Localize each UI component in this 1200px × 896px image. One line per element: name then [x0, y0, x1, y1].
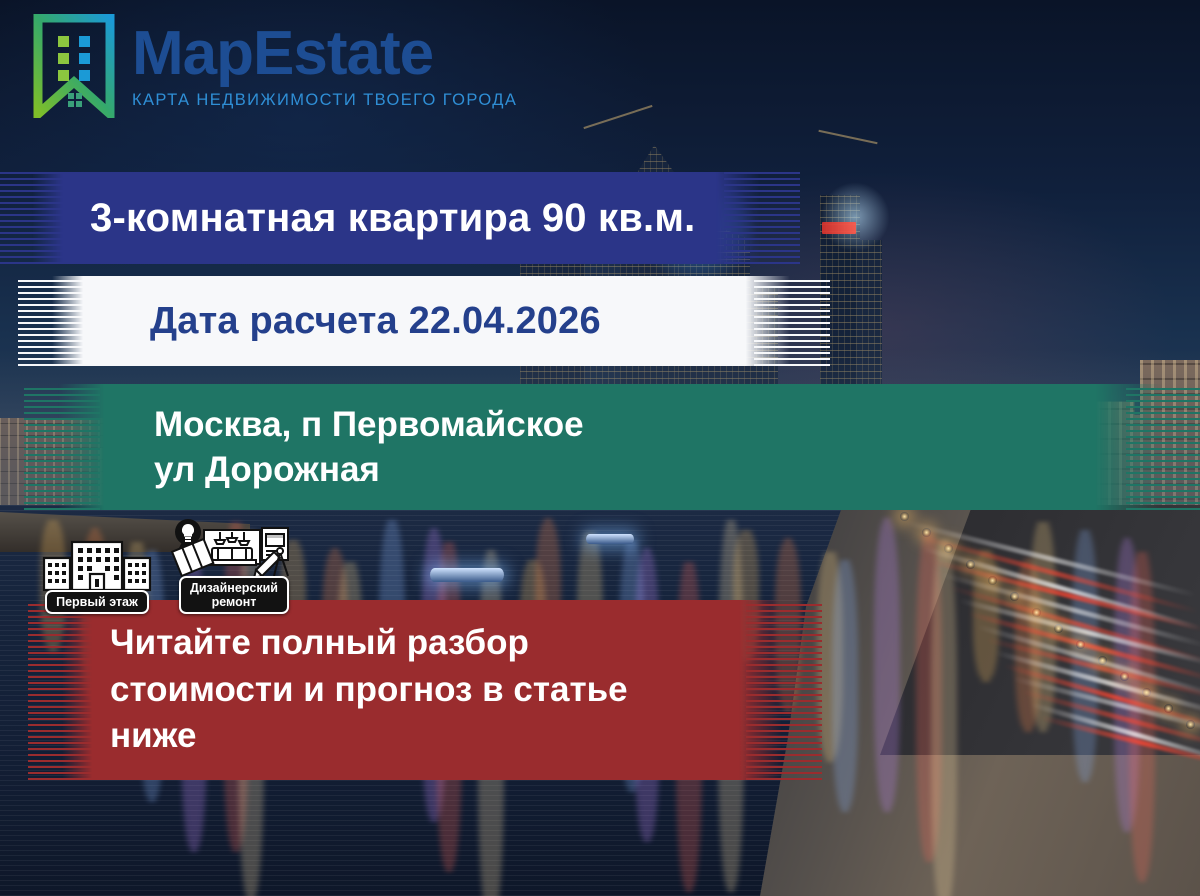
water-reflection	[832, 560, 858, 810]
date-banner: Дата расчета 22.04.2026	[52, 276, 790, 366]
street-lamp-light	[922, 528, 931, 537]
badge-label: Дизайнерский ремонт	[179, 576, 289, 614]
street-lamp-light	[1076, 640, 1085, 649]
badge-label: Первый этаж	[45, 590, 149, 614]
water-reflection	[874, 520, 900, 810]
address-line-1: Москва, п Первомайское	[154, 402, 584, 448]
street-lamp-light	[1098, 656, 1107, 665]
street-lamp-light	[1186, 720, 1195, 729]
apartment-building-icon	[38, 536, 156, 594]
brand-tagline: КАРТА НЕДВИЖИМОСТИ ТВОЕГО ГОРОДА	[132, 91, 517, 110]
cta-line-1: Читайте полный разбор	[110, 620, 628, 667]
address-text: Москва, п Первомайское ул Дорожная	[154, 402, 584, 493]
property-poster: MapEstate КАРТА НЕДВИЖИМОСТИ ТВОЕГО ГОРО…	[0, 0, 1200, 896]
interior-design-icon	[170, 518, 298, 580]
address-banner: Москва, п Первомайское ул Дорожная	[58, 384, 1162, 510]
calculation-date-text: Дата расчета 22.04.2026	[150, 300, 601, 343]
river-boat	[586, 534, 634, 544]
street-lamp-light	[966, 560, 975, 569]
cta-line-3: ниже	[110, 713, 628, 760]
street-lamp-light	[1164, 704, 1173, 713]
street-lamp-light	[1120, 672, 1129, 681]
cta-text: Читайте полный разбор стоимости и прогно…	[110, 620, 628, 760]
brand-logo[interactable]: MapEstate КАРТА НЕДВИЖИМОСТИ ТВОЕГО ГОРО…	[30, 14, 517, 118]
street-lamp-light	[944, 544, 953, 553]
title-text: 3-комнатная квартира 90 кв.м.	[90, 196, 695, 241]
bookmark-building-icon	[30, 14, 118, 118]
badge-first-floor: Первый этаж	[38, 536, 156, 614]
river-boat	[430, 568, 504, 582]
street-lamp-light	[1142, 688, 1151, 697]
cta-line-2: стоимости и прогноз в статье	[110, 667, 628, 714]
address-line-2: ул Дорожная	[154, 447, 584, 493]
cta-banner: Читайте полный разбор стоимости и прогно…	[62, 600, 782, 780]
title-banner: 3-комнатная квартира 90 кв.м.	[32, 172, 760, 264]
feature-badges: Первый этаж	[38, 518, 298, 614]
badge-designer-renovation: Дизайнерский ремонт	[170, 518, 298, 614]
street-lamp-light	[1054, 624, 1063, 633]
street-lamp-light	[1032, 608, 1041, 617]
brand-name: MapEstate	[132, 23, 517, 85]
street-lamp-light	[988, 576, 997, 585]
street-lamp-light	[1010, 592, 1019, 601]
header: MapEstate КАРТА НЕДВИЖИМОСТИ ТВОЕГО ГОРО…	[0, 0, 1200, 140]
street-lamp-light	[900, 512, 909, 521]
water-reflection	[931, 540, 957, 896]
